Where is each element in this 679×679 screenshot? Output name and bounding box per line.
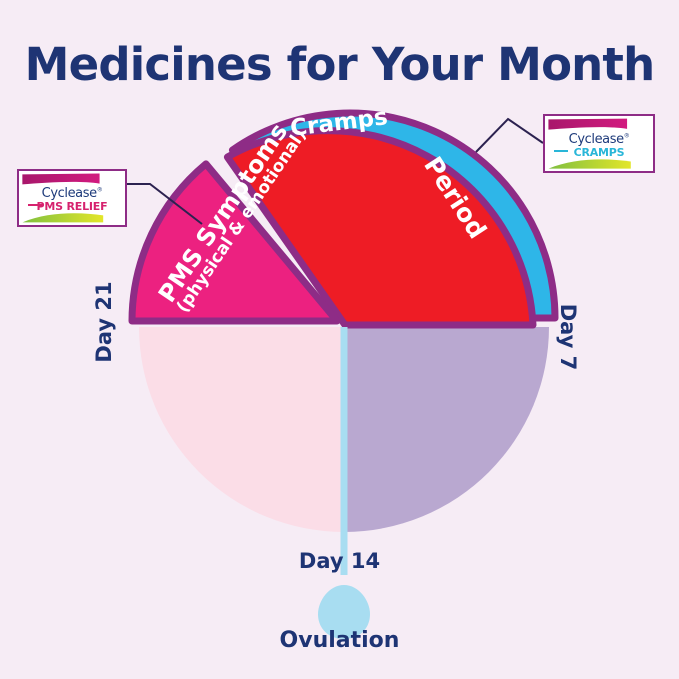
infographic-canvas: Medicines for Your Month [0,0,679,679]
badge-top-swoosh-icon [545,116,631,131]
badge-brand-name: Cyclease® [19,187,125,200]
day-marker-14: Day 14 [0,549,679,573]
ovulation-label: Ovulation [0,628,679,653]
slice-follicular-lower-left [139,327,344,532]
day-marker-21: Day 21 [92,277,116,367]
badge-brand-name: Cyclease® [545,133,653,146]
badge-bottom-swoosh-icon [19,211,107,225]
connector-line-cramps [476,119,543,152]
badge-top-swoosh-icon [19,171,103,186]
badge-cyclease-pms-relief[interactable]: Cyclease® PMS RELIEF [17,169,127,227]
day-marker-7: Day 7 [556,292,580,382]
badge-cyclease-cramps[interactable]: Cyclease® CRAMPS [543,114,655,173]
badge-bottom-swoosh-icon [545,157,634,171]
slice-luteal-lower-right [344,327,549,532]
